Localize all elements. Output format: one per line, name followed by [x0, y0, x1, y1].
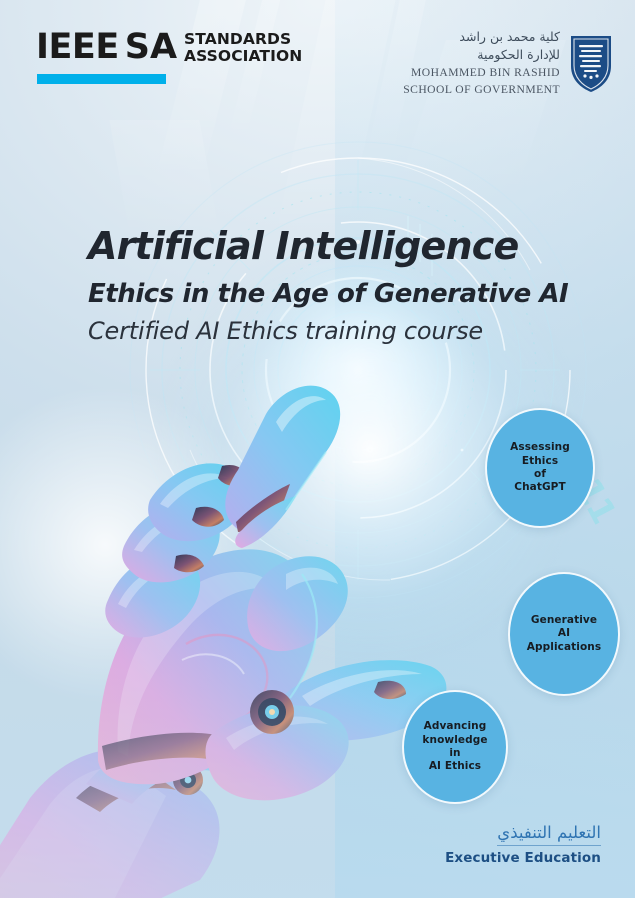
mbrsg-arabic-line1: كلية محمد بن راشد: [403, 28, 560, 46]
badge-text: Generative AI Applications: [527, 614, 601, 654]
ieee-sa-wordmark: IEEE SA: [36, 30, 177, 65]
title-line-3: Certified AI Ethics training course: [88, 318, 608, 344]
ieee-text: IEEE: [36, 30, 119, 65]
badge-line: Assessing: [510, 441, 570, 454]
title-line-1: Artificial Intelligence: [88, 226, 608, 266]
badge-line: AI Ethics: [422, 760, 487, 773]
title-block: Artificial Intelligence Ethics in the Ag…: [88, 226, 608, 344]
badge-line: Ethics: [510, 455, 570, 468]
ieee-accent-bar: [37, 74, 166, 84]
ieee-standards-association-text: STANDARDS ASSOCIATION: [184, 31, 302, 66]
association-line: ASSOCIATION: [184, 48, 302, 65]
badge-line: knowledge: [422, 734, 487, 747]
badge-text: Assessing Ethics of ChatGPT: [510, 441, 570, 495]
poster-header: IEEE SA STANDARDS ASSOCIATION كلية محمد …: [0, 0, 635, 110]
badge-line: of: [510, 468, 570, 481]
mbrsg-english-line2: SCHOOL OF GOVERNMENT: [403, 83, 560, 98]
poster-root: B11 IEEE SA STANDARDS ASSOCIATION كلية م…: [0, 0, 635, 898]
sa-text: SA: [125, 30, 177, 65]
badge-line: Advancing: [422, 720, 487, 733]
badge-line: AI: [527, 627, 601, 640]
mbrsg-english-line1: MOHAMMED BIN RASHID: [403, 66, 560, 81]
standards-line: STANDARDS: [184, 31, 302, 48]
badge-text: Advancing knowledge in AI Ethics: [422, 720, 487, 774]
badge-line: Generative: [527, 614, 601, 627]
badge-line: in: [422, 747, 487, 760]
badge-line: Applications: [527, 641, 601, 654]
title-line-2: Ethics in the Age of Generative AI: [88, 280, 608, 309]
mbrsg-text-block: كلية محمد بن راشد للإدارة الحكومية MOHAM…: [403, 28, 560, 98]
ieee-sa-logo: IEEE SA STANDARDS ASSOCIATION: [36, 30, 177, 65]
badge-advancing-knowledge-in-ai-ethics: Advancing knowledge in AI Ethics: [402, 690, 508, 804]
shield-emblem-icon: [569, 32, 613, 94]
executive-education-english: Executive Education: [445, 850, 601, 866]
executive-education-logo: التعليم التنفيذي Executive Education: [445, 823, 601, 866]
badge-generative-ai-applications: Generative AI Applications: [508, 572, 620, 696]
executive-education-arabic: التعليم التنفيذي: [497, 823, 601, 846]
badge-line: ChatGPT: [510, 481, 570, 494]
mbrsg-arabic-line2: للإدارة الحكومية: [403, 46, 560, 64]
badge-assessing-ethics-of-chatgpt: Assessing Ethics of ChatGPT: [485, 408, 595, 528]
mbrsg-logo: كلية محمد بن راشد للإدارة الحكومية MOHAM…: [403, 28, 613, 98]
